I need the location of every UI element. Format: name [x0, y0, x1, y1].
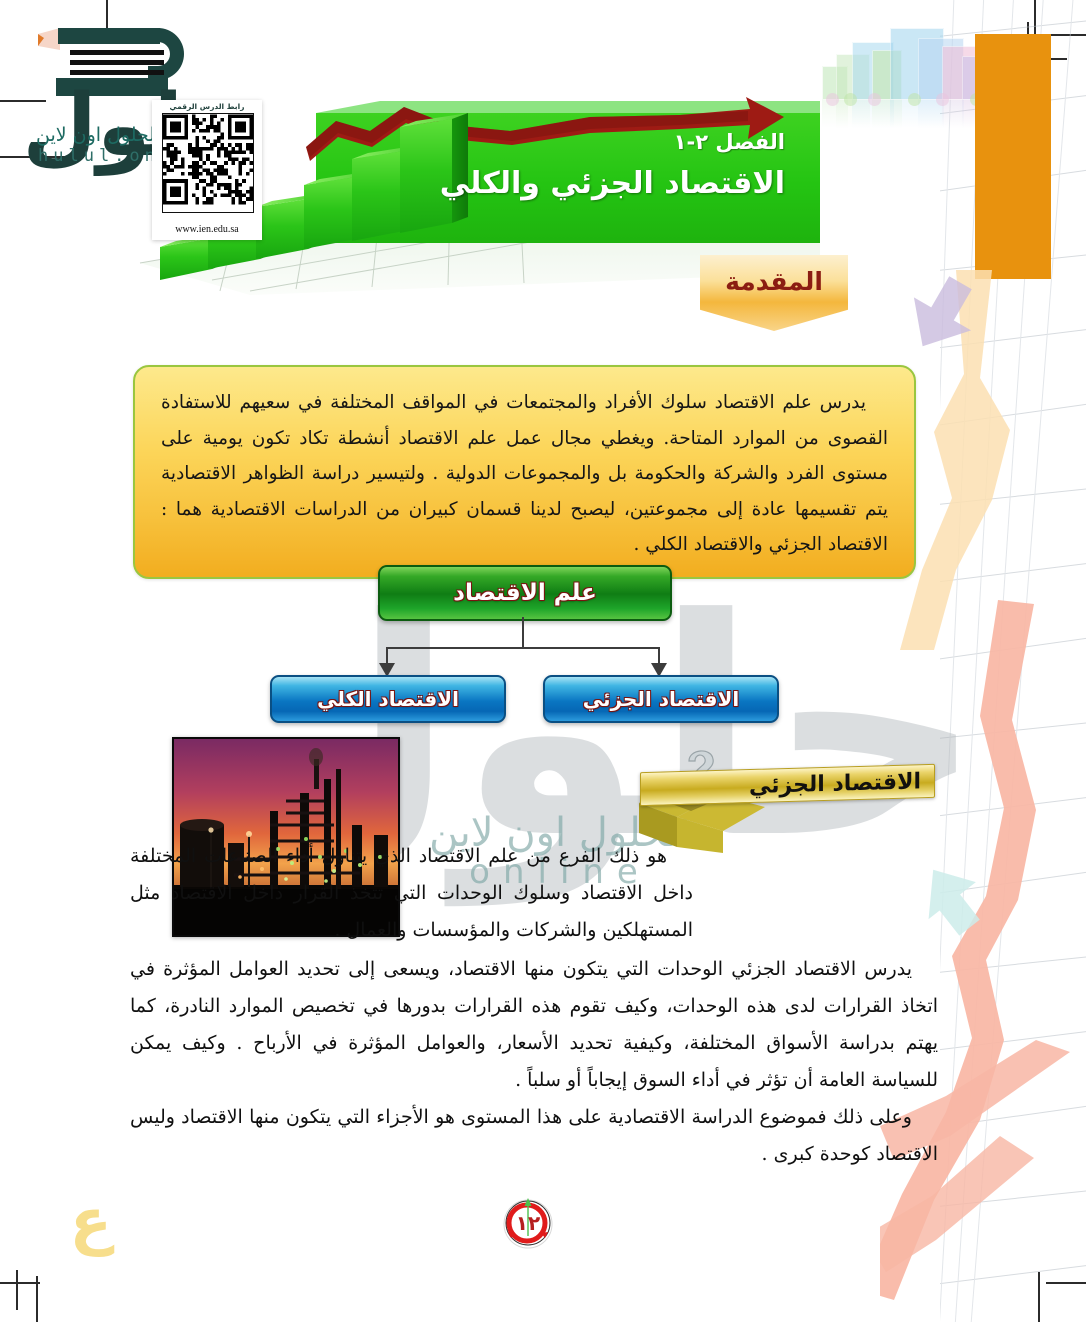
section-banner: الاقتصاد الجزئي: [640, 768, 935, 802]
crop-mark-left-lower-v: [16, 1270, 18, 1310]
orange-side-tab: [975, 34, 1051, 279]
intro-badge: المقدمة: [700, 255, 848, 331]
chapter-heading: الفصل ٢-١ الاقتصاد الجزئي والكلي: [455, 130, 785, 201]
diagram-connector-vertical: [522, 617, 524, 647]
section-body-text: هو ذلك الفرع من علم الاقتصاد الذي يتناول…: [130, 838, 938, 1173]
qr-code-card[interactable]: رابط الدرس الرقمي www.ien.edu.sa: [152, 100, 262, 240]
diagram-node-micro: الاقتصاد الجزئي: [543, 675, 779, 723]
city-skyline-illustration: [820, 18, 1000, 128]
chapter-number: الفصل ٢-١: [455, 130, 785, 154]
hulul-logo-subtitle-ar: الحلول اون لاين: [36, 124, 160, 146]
qr-code-caption: رابط الدرس الرقمي: [156, 102, 258, 111]
intro-badge-label: المقدمة: [725, 267, 823, 296]
qr-code-url: www.ien.edu.sa: [152, 224, 262, 235]
diagram-node-root: علم الاقتصاد: [378, 565, 672, 621]
section-banner-label: الاقتصاد الجزئي: [640, 764, 935, 806]
intro-paragraph: يدرس علم الاقتصاد سلوك الأفراد والمجتمعا…: [161, 385, 888, 563]
diagram-node-macro-label: الاقتصاد الكلي: [317, 687, 459, 711]
economics-flow-diagram: علم الاقتصاد الاقتصاد الكلي الاقتصاد الج…: [265, 565, 795, 730]
lavender-arrow-decoration: [900, 268, 986, 358]
page-number-badge: ١٢: [495, 1190, 561, 1256]
footer-watermark-glyph: ع: [52, 1190, 112, 1254]
section-body: هو ذلك الفرع من علم الاقتصاد الذي يتناول…: [130, 838, 938, 1173]
section-paragraph-3: وعلى ذلك فموضوع الدراسة الاقتصادية على ه…: [130, 1099, 938, 1173]
page-number: ١٢: [495, 1190, 561, 1256]
diagram-node-micro-label: الاقتصاد الجزئي: [583, 687, 739, 711]
photo-text-wrap-spacer: [693, 838, 938, 946]
page-title: الاقتصاد الجزئي والكلي: [455, 166, 785, 201]
diagram-node-root-label: علم الاقتصاد: [453, 580, 597, 606]
crop-mark-bottom-left-h: [0, 1282, 40, 1284]
qr-code-image[interactable]: [162, 113, 254, 213]
section-paragraph-2: يدرس الاقتصاد الجزئي الوحدات التي يتكون …: [130, 951, 938, 1099]
diagram-node-macro: الاقتصاد الكلي: [270, 675, 506, 723]
textbook-page: حلول الحلول اون لاين online: [0, 0, 1086, 1322]
intro-callout-box: يدرس علم الاقتصاد سلوك الأفراد والمجتمعا…: [133, 365, 916, 579]
diagram-connector-horizontal: [386, 647, 660, 649]
